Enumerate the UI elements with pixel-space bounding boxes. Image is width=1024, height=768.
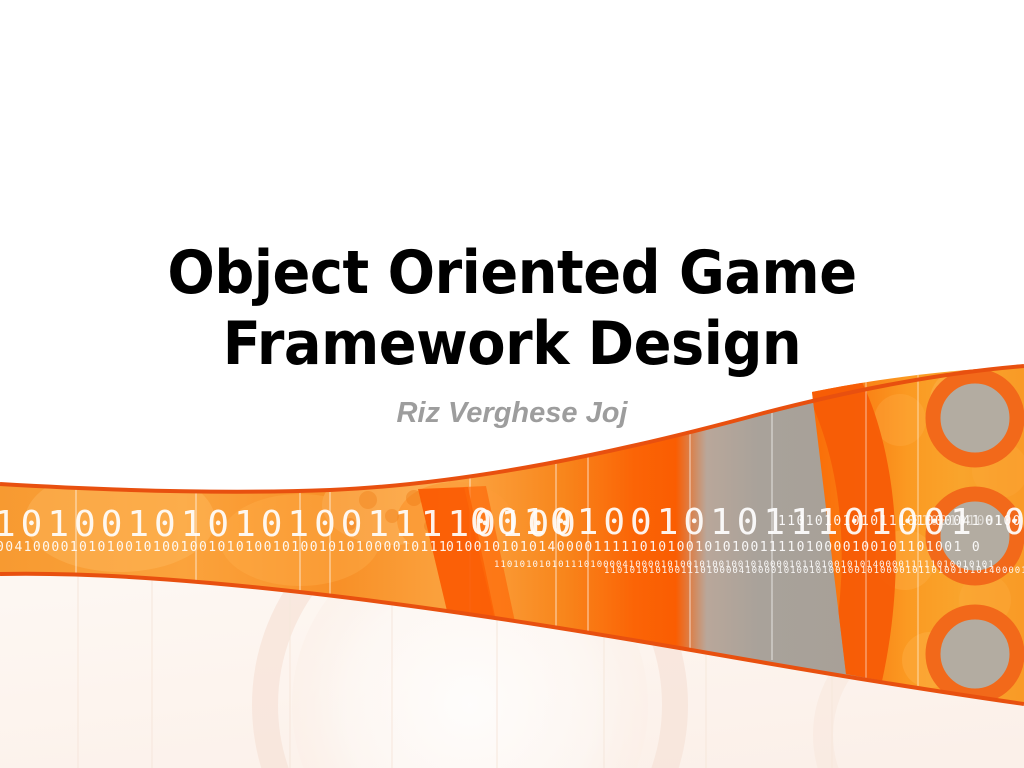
slide-subtitle: Riz Verghese Joj bbox=[112, 396, 912, 431]
slide-canvas: 1010010101010011110100 00410000101010010… bbox=[0, 0, 1024, 768]
slide-text-layer: Object Oriented Game Framework Design Ri… bbox=[0, 0, 1024, 768]
slide-title: Object Oriented Game Framework Design bbox=[140, 238, 884, 380]
